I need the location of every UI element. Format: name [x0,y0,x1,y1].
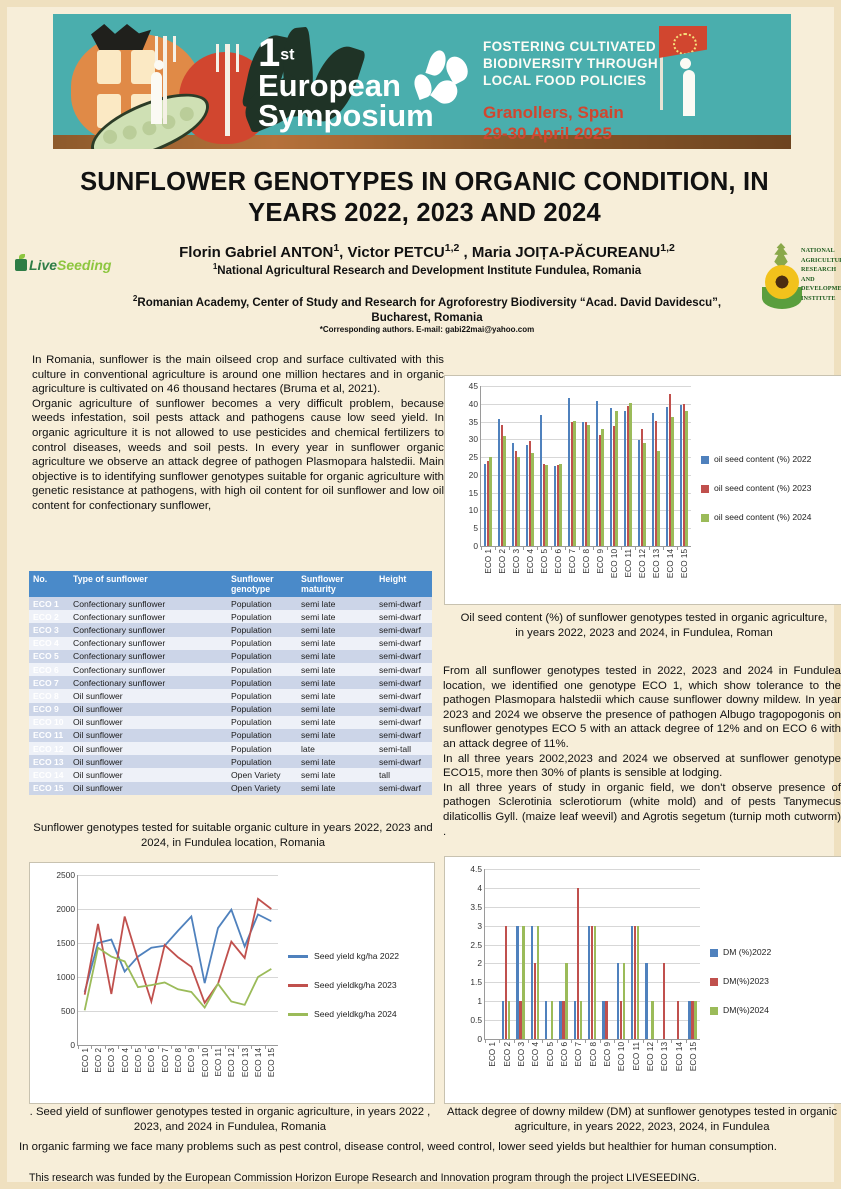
chart-bar [565,963,567,1039]
x-axis-tick-label: ECO 14 [254,1048,263,1077]
chart-bar [605,1001,607,1039]
oil-plot-area: 051015202530354045 [481,386,691,546]
x-axis-tick-label: ECO 9 [596,549,605,574]
affiliation-1: 1National Agricultural Research and Deve… [107,259,747,279]
liveseeding-logo: LiveSeeding [15,257,111,273]
legend-item: oil seed content (%) 2023 [701,483,811,494]
table-cell: semi late [297,610,375,623]
table-row: ECO 4Confectionary sunflowerPopulationse… [29,637,432,650]
row-id-cell: ECO 8 [29,689,69,702]
table-row: ECO 9Oil sunflowerPopulationsemi latesem… [29,703,432,716]
chart-line [85,910,272,992]
liveseeding-seeding: Seeding [57,257,111,273]
chart-bar [663,963,665,1039]
x-axis-tick [211,1045,212,1049]
conclusion-text: In organic farming we face many problems… [19,1140,839,1155]
banner-location: Granollers, Spain 29-30 April 2025 [483,102,624,144]
x-axis-tick-label: ECO 5 [546,1042,555,1067]
x-axis-tick [514,1039,515,1043]
chart-bar [489,457,491,546]
y-axis-tick-label: 15 [469,488,478,498]
dm-chart-caption: Attack degree of downy mildew (DM) at su… [443,1105,841,1134]
table-cell: semi-dwarf [375,650,432,663]
x-axis-tick-label: ECO 14 [666,549,675,578]
x-axis-tick [145,1045,146,1049]
chart-bar [637,926,639,1039]
y-axis-tick-label: 1000 [56,972,75,982]
x-axis-tick-label: ECO 2 [503,1042,512,1067]
sunflower-icon [765,265,799,299]
table-row: ECO 14Oil sunflowerOpen Varietysemi late… [29,768,432,781]
y-axis-tick-label: 2000 [56,904,75,914]
x-axis-tick-label: ECO 13 [241,1048,250,1077]
x-axis-tick-label: ECO 4 [531,1042,540,1067]
x-axis-tick-label: ECO 15 [267,1048,276,1077]
table-header-row: No.Type of sunflowerSunflower genotypeSu… [29,571,432,597]
x-axis-tick [607,546,608,550]
table-cell: Population [227,597,297,610]
gridline [481,386,691,387]
table-cell: Confectionary sunflower [69,663,227,676]
x-axis-tick [198,1045,199,1049]
table-cell: Population [227,689,297,702]
bat-illustration [91,24,151,50]
legend-item: DM(%)2023 [710,976,771,987]
chart-bar [587,425,589,546]
funding-text: This research was funded by the European… [29,1172,839,1184]
chart-bar [545,1001,547,1039]
table-cell: Oil sunflower [69,689,227,702]
fork2-tines-icon [216,44,219,72]
x-axis-tick [485,1039,486,1043]
eu-flag-icon [659,26,707,58]
table-row: ECO 12Oil sunflowerPopulationlatesemi-ta… [29,742,432,755]
table-col-header: Sunflower genotype [227,571,297,597]
x-axis-tick [499,1039,500,1043]
x-axis-tick-label: ECO 12 [646,1042,655,1071]
table-row: ECO 1Confectionary sunflowerPopulationse… [29,597,432,610]
table-cell: Confectionary sunflower [69,637,227,650]
chart-bar [517,457,519,546]
table-cell: late [297,742,375,755]
oil-legend: oil seed content (%) 2022oil seed conten… [701,454,811,541]
x-axis-tick [585,1039,586,1043]
table-cell: semi late [297,703,375,716]
person-figure-left [151,72,162,124]
table-cell: Open Variety [227,768,297,781]
person-head-left [154,60,164,70]
results-text: From all sunflower genotypes tested in 2… [443,664,841,839]
x-axis-tick-label: ECO 7 [568,549,577,574]
table-col-header: No. [29,571,69,597]
banner-dates: 29-30 April 2025 [483,124,612,143]
y-axis-tick-label: 500 [61,1006,75,1016]
x-axis-tick [551,546,552,550]
chart-bar [594,926,596,1039]
table-cell: Open Variety [227,782,297,795]
x-axis-tick-label: ECO 8 [589,1042,598,1067]
chart-bar [551,1001,553,1039]
x-axis-tick [635,546,636,550]
legend-label: Seed yield kg/ha 2022 [314,951,399,962]
x-axis-tick [251,1045,252,1049]
introduction-text: In Romania, sunflower is the main oilsee… [32,353,444,514]
table-cell: semi-dwarf [375,597,432,610]
gridline [485,869,700,870]
y-axis-tick-label: 0 [477,1034,482,1044]
legend-item: DM(%)2024 [710,1005,771,1016]
row-id-cell: ECO 10 [29,716,69,729]
y-axis-tick-label: 4 [477,883,482,893]
table-cell: Confectionary sunflower [69,597,227,610]
x-axis-tick-label: ECO 11 [214,1048,223,1077]
x-axis-tick-label: ECO 4 [526,549,535,574]
table-cell: Population [227,623,297,636]
table-cell: Population [227,650,297,663]
table-cell: Oil sunflower [69,768,227,781]
legend-item: oil seed content (%) 2024 [701,512,811,523]
x-axis-tick-label: ECO 6 [560,1042,569,1067]
table-cell: Population [227,610,297,623]
row-id-cell: ECO 3 [29,623,69,636]
chart-bar [651,1001,653,1039]
x-axis-tick [238,1045,239,1049]
oil-chart-caption: Oil seed content (%) of sunflower genoty… [455,611,833,640]
x-axis-tick-label: ECO 2 [498,549,507,574]
x-axis-tick [158,1045,159,1049]
x-axis-tick-label: ECO 9 [187,1048,196,1073]
x-axis-tick-label: ECO 4 [121,1048,130,1073]
table-cell: semi-tall [375,742,432,755]
x-axis-tick-label: ECO 9 [603,1042,612,1067]
table-body: ECO 1Confectionary sunflowerPopulationse… [29,597,432,795]
legend-label: DM(%)2024 [723,1005,769,1016]
row-id-cell: ECO 13 [29,755,69,768]
table-cell: semi-dwarf [375,637,432,650]
symposium-logo: 1st European Symposium [258,36,434,131]
seed-sprout-icon [15,259,27,271]
x-axis-tick [481,546,482,550]
x-axis-line [484,1039,700,1040]
chart-bar [657,451,659,546]
table-row: ECO 8Oil sunflowerPopulationsemi latesem… [29,689,432,702]
x-axis-tick-label: ECO 5 [540,549,549,574]
row-id-cell: ECO 9 [29,703,69,716]
y-axis-line [484,869,485,1039]
x-axis-tick [495,546,496,550]
fork-icon [163,36,167,124]
gridline [485,907,700,908]
legend-item: oil seed content (%) 2022 [701,454,811,465]
genotype-table: No.Type of sunflowerSunflower genotypeSu… [29,571,432,795]
seed-yield-chart: 05001000150020002500ECO 1ECO 2ECO 3ECO 4… [29,862,435,1104]
table-cell: Oil sunflower [69,782,227,795]
oil-seed-content-chart: 051015202530354045ECO 1ECO 2ECO 3ECO 4EC… [444,375,841,605]
x-axis-tick [523,546,524,550]
table-row: ECO 5Confectionary sunflowerPopulationse… [29,650,432,663]
table-cell: semi-dwarf [375,716,432,729]
table-cell: semi late [297,716,375,729]
chart-bar [643,443,645,546]
y-axis-tick-label: 10 [469,505,478,515]
table-cell: semi late [297,676,375,689]
table-cell: semi late [297,729,375,742]
legend-label: Seed yieldkg/ha 2023 [314,980,397,991]
x-axis-tick-label: ECO 10 [610,549,619,578]
banner-headline: FOSTERING CULTIVATED BIODIVERSITY THROUG… [483,38,658,89]
table-cell: semi late [297,650,375,663]
table-cell: Oil sunflower [69,729,227,742]
y-axis-tick-label: 25 [469,452,478,462]
x-axis-tick [105,1045,106,1049]
chart-bar [645,963,647,1039]
table-cell: Population [227,637,297,650]
table-cell: Oil sunflower [69,755,227,768]
row-id-cell: ECO 4 [29,637,69,650]
table-cell: Population [227,716,297,729]
y-axis-tick-label: 2.5 [470,940,482,950]
x-axis-tick [118,1045,119,1049]
legend-swatch [288,1013,308,1016]
symposium-banner: 1st European Symposium FOSTERING CULTIVA… [53,14,791,149]
table-cell: semi late [297,782,375,795]
logo-line-symposium: Symposium [258,101,434,131]
chart-bar [685,411,687,546]
row-id-cell: ECO 7 [29,676,69,689]
table-cell: semi-dwarf [375,689,432,702]
chart-bar [522,926,524,1039]
y-axis-tick-label: 30 [469,434,478,444]
x-axis-tick-label: ECO 10 [201,1048,210,1077]
x-axis-tick [565,546,566,550]
chart-bar [573,421,575,546]
x-axis-line [77,1045,278,1046]
x-axis-tick-label: ECO 1 [81,1048,90,1073]
row-id-cell: ECO 14 [29,768,69,781]
x-axis-tick [579,546,580,550]
table-cell: Population [227,729,297,742]
y-axis-tick-label: 5 [473,523,478,533]
legend-item: Seed yieldkg/ha 2024 [288,1009,399,1020]
x-axis-tick [131,1045,132,1049]
x-axis-tick-label: ECO 3 [512,549,521,574]
gridline [481,404,691,405]
legend-item: Seed yield kg/ha 2022 [288,951,399,962]
legend-item: Seed yieldkg/ha 2023 [288,980,399,991]
table-cell: semi-dwarf [375,755,432,768]
table-cell: Confectionary sunflower [69,650,227,663]
table-cell: Population [227,676,297,689]
affiliation-2: 2Romanian Academy, Center of Study and R… [107,291,747,326]
x-axis-tick [614,1039,615,1043]
table-row: ECO 10Oil sunflowerPopulationsemi latese… [29,716,432,729]
x-axis-tick-label: ECO 15 [689,1042,698,1071]
row-id-cell: ECO 1 [29,597,69,610]
x-axis-tick-label: ECO 7 [574,1042,583,1067]
chart-bar [694,1001,696,1039]
table-cell: Oil sunflower [69,742,227,755]
x-axis-tick [542,1039,543,1043]
x-axis-tick-label: ECO 1 [484,549,493,574]
chart-bar [580,1001,582,1039]
table-row: ECO 13Oil sunflowerPopulationsemi latese… [29,755,432,768]
x-axis-tick [686,1039,687,1043]
x-axis-tick [671,1039,672,1043]
chart-bar [559,464,561,546]
chart-bar [615,411,617,546]
table-row: ECO 3Confectionary sunflowerPopulationse… [29,623,432,636]
table-cell: semi-dwarf [375,663,432,676]
yield-plot-area: 05001000150020002500 [78,875,278,1045]
y-axis-tick-label: 1500 [56,938,75,948]
nardi-logo-text: NATIONAL AGRICULTURAL RESEARCH AND DEVEL… [801,246,835,304]
table-cell: Confectionary sunflower [69,676,227,689]
table-cell: Confectionary sunflower [69,623,227,636]
y-axis-tick-label: 0 [70,1040,75,1050]
legend-label: oil seed content (%) 2024 [714,512,811,523]
x-axis-tick-label: ECO 13 [660,1042,669,1071]
person-head-right [680,58,691,69]
x-axis-tick-label: ECO 2 [94,1048,103,1073]
table-row: ECO 7Confectionary sunflowerPopulationse… [29,676,432,689]
row-id-cell: ECO 12 [29,742,69,755]
table-caption: Sunflower genotypes tested for suitable … [33,821,433,850]
x-axis-tick [509,546,510,550]
row-id-cell: ECO 15 [29,782,69,795]
legend-swatch [701,514,709,522]
chart-bar [671,417,673,546]
x-axis-tick-label: ECO 12 [638,549,647,578]
x-axis-tick-label: ECO 11 [632,1042,641,1071]
legend-item: DM (%)2022 [710,947,771,958]
legend-swatch [701,485,709,493]
row-id-cell: ECO 5 [29,650,69,663]
x-axis-tick [557,1039,558,1043]
downy-mildew-chart: 00.511.522.533.544.5ECO 1ECO 2ECO 3ECO 4… [444,856,841,1104]
x-axis-tick-label: ECO 13 [652,549,661,578]
table-row: ECO 11Oil sunflowerPopulationsemi latese… [29,729,432,742]
x-axis-tick [643,1039,644,1043]
ordinal-suffix: st [280,47,294,64]
x-axis-tick-label: ECO 8 [582,549,591,574]
table-cell: semi late [297,597,375,610]
table-cell: semi-dwarf [375,703,432,716]
yield-legend: Seed yield kg/ha 2022Seed yieldkg/ha 202… [288,951,399,1038]
chart-bar [531,453,533,547]
legend-label: oil seed content (%) 2022 [714,454,811,465]
legend-label: Seed yieldkg/ha 2024 [314,1009,397,1020]
y-axis-tick-label: 0.5 [470,1015,482,1025]
x-axis-tick-label: ECO 7 [161,1048,170,1073]
table-row: ECO 15Oil sunflowerOpen Varietysemi late… [29,782,432,795]
table-cell: semi-dwarf [375,623,432,636]
gridline [485,888,700,889]
y-axis-tick-label: 20 [469,470,478,480]
line-series-group [78,875,278,1045]
chart-bar [537,926,539,1039]
table-col-header: Sunflower maturity [297,571,375,597]
logo-line-european: European [258,71,434,101]
x-axis-tick-label: ECO 10 [617,1042,626,1071]
y-axis-tick-label: 2500 [56,870,75,880]
x-axis-tick [537,546,538,550]
y-axis-tick-label: 3 [477,921,482,931]
row-id-cell: ECO 2 [29,610,69,623]
chart-bar [623,963,625,1039]
banner-city: Granollers, Spain [483,103,624,122]
table-cell: Population [227,663,297,676]
x-axis-tick-label: ECO 5 [134,1048,143,1073]
x-axis-tick-label: ECO 3 [107,1048,116,1073]
chart-bar [677,1001,679,1039]
table-row: ECO 2Confectionary sunflowerPopulationse… [29,610,432,623]
legend-swatch [710,1007,718,1015]
yield-chart-caption: . Seed yield of sunflower genotypes test… [19,1105,441,1134]
x-axis-tick [663,546,664,550]
y-axis-tick-label: 4.5 [470,864,482,874]
table-cell: semi-dwarf [375,729,432,742]
x-axis-tick-label: ECO 6 [554,549,563,574]
legend-swatch [701,456,709,464]
row-id-cell: ECO 11 [29,729,69,742]
x-axis-tick [171,1045,172,1049]
x-axis-tick-label: ECO 12 [227,1048,236,1077]
x-axis-tick [593,546,594,550]
y-axis-tick-label: 45 [469,381,478,391]
table-cell: semi-dwarf [375,782,432,795]
person-figure-right [683,70,695,116]
x-axis-tick [91,1045,92,1049]
table-cell: tall [375,768,432,781]
x-axis-tick-label: ECO 11 [624,549,633,578]
chart-line [85,899,272,1003]
x-axis-tick-label: ECO 15 [680,549,689,578]
legend-label: DM (%)2022 [723,947,771,958]
table-col-header: Height [375,571,432,597]
x-axis-tick [649,546,650,550]
table-cell: semi late [297,755,375,768]
fork2-icon [225,44,230,136]
liveseeding-live: Live [29,257,57,273]
legend-swatch [288,984,308,987]
chart-bar [503,436,505,546]
x-axis-tick [78,1045,79,1049]
x-axis-tick-label: ECO 1 [488,1042,497,1067]
table-cell: Population [227,742,297,755]
legend-swatch [710,949,718,957]
chart-bar [545,465,547,546]
table-cell: semi-dwarf [375,610,432,623]
x-axis-tick-label: ECO 14 [675,1042,684,1071]
table-cell: semi late [297,623,375,636]
table-cell: Confectionary sunflower [69,610,227,623]
chart-bar [508,1001,510,1039]
row-id-cell: ECO 6 [29,663,69,676]
table-cell: semi late [297,663,375,676]
nardi-logo: NATIONAL AGRICULTURAL RESEARCH AND DEVEL… [763,243,835,329]
x-axis-tick [621,546,622,550]
poster-page: 1st European Symposium FOSTERING CULTIVA… [7,7,834,1182]
y-axis-tick-label: 2 [477,958,482,968]
corresponding-author: *Corresponding authors. E-mail: gabi22ma… [107,325,747,334]
table-row: ECO 6Confectionary sunflowerPopulationse… [29,663,432,676]
x-axis-line [480,546,691,547]
poster-title: SUNFLOWER GENOTYPES IN ORGANIC CONDITION… [67,167,782,229]
dm-legend: DM (%)2022DM(%)2023DM(%)2024 [710,947,771,1034]
y-axis-tick-label: 0 [473,541,478,551]
flag-stars [673,33,697,55]
y-axis-line [480,386,481,546]
